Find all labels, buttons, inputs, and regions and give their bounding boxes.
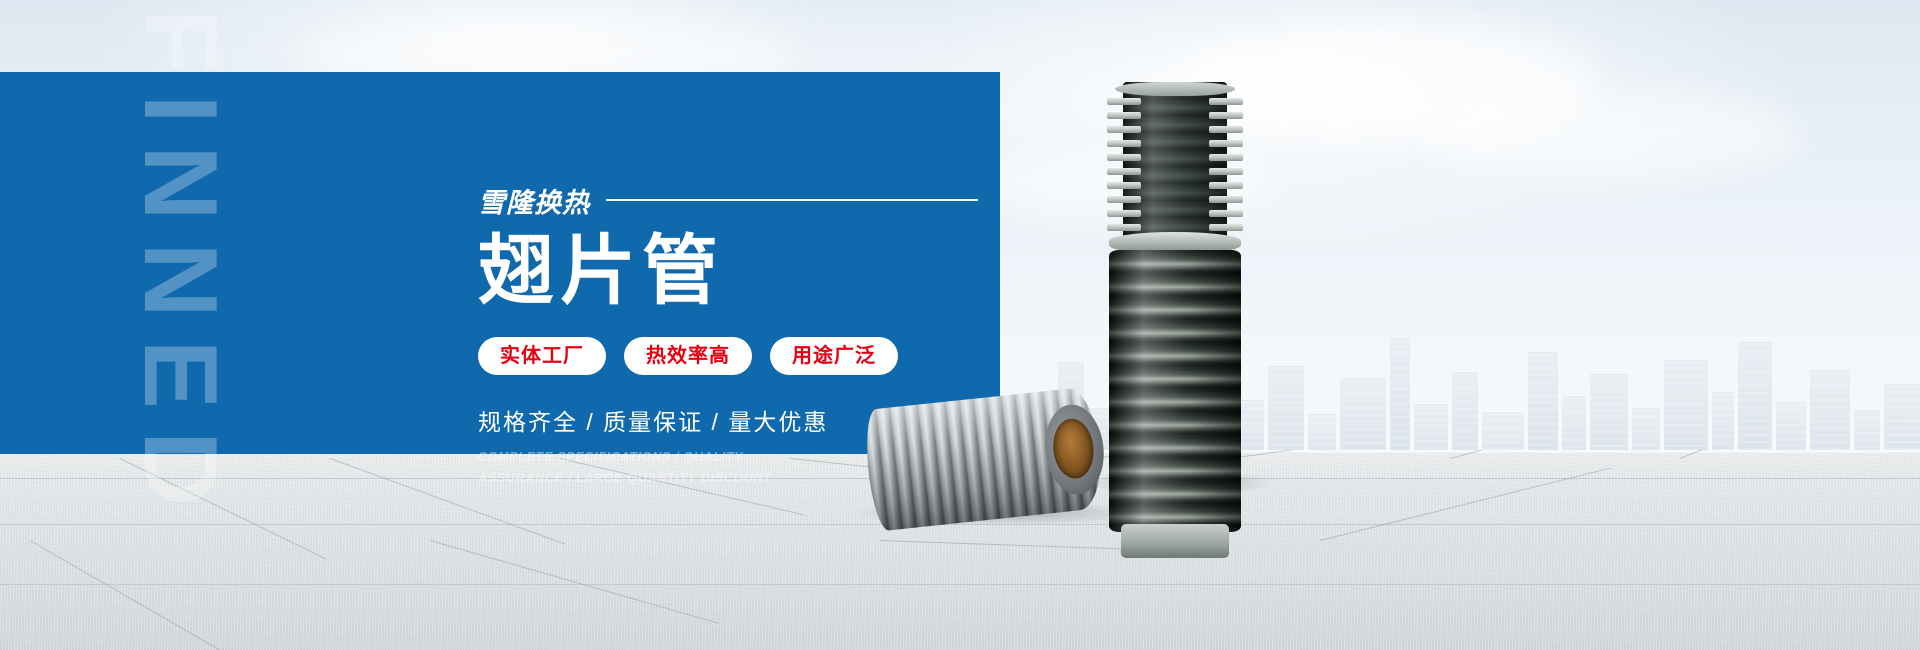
tube-helical-fin-section [1109, 250, 1241, 532]
page-title: 翅片管 [478, 232, 978, 311]
blue-content-panel: FINNED 雪隆换热 翅片管 实体工厂 热效率高 用途广泛 规格齐全 / 质量… [0, 72, 1000, 454]
tube-top-cap [1115, 82, 1235, 96]
subtitle-english: COMPLETE SPECIFICATIONS / QUALITY ASSURA… [478, 447, 808, 488]
brand-divider-line [606, 199, 978, 201]
tube-base-flange [1121, 524, 1229, 558]
brand-name: 雪隆换热 [478, 181, 590, 220]
hero-banner: FINNED 雪隆换热 翅片管 实体工厂 热效率高 用途广泛 规格齐全 / 质量… [0, 0, 1920, 650]
feature-pill-1[interactable]: 实体工厂 [478, 337, 606, 375]
product-vertical-finned-tube [1105, 82, 1245, 482]
feature-pill-group: 实体工厂 热效率高 用途广泛 [478, 337, 978, 375]
product-horizontal-finned-tube [862, 386, 1105, 532]
feature-pill-3[interactable]: 用途广泛 [770, 337, 898, 375]
brand-row: 雪隆换热 [478, 182, 978, 218]
cloud-shape [1420, 90, 1800, 180]
tube-upper-fin-section [1105, 86, 1245, 234]
feature-pill-2[interactable]: 热效率高 [624, 337, 752, 375]
